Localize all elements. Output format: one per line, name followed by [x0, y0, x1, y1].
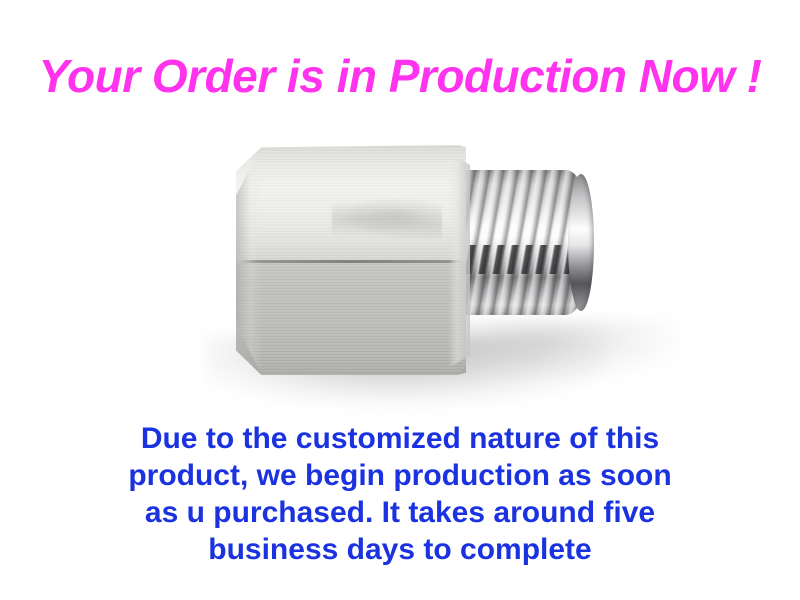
promo-banner: Your Order is in Production Now ! Due to… [0, 0, 800, 600]
notice-line: as u purchased. It takes around five [60, 494, 740, 531]
product-image [150, 120, 670, 410]
notice-line: business days to complete [60, 531, 740, 568]
hex-nut-body [236, 145, 466, 375]
thread-end-cap [568, 174, 594, 311]
notice-line: Due to the customized nature of this [60, 420, 740, 457]
hex-surface-marks [332, 199, 442, 239]
threaded-shank [450, 170, 592, 315]
notice-line: product, we begin production as soon [60, 457, 740, 494]
hex-right-shoulder [448, 147, 470, 373]
hex-edge-line [238, 260, 464, 263]
production-notice-text: Due to the customized nature of this pro… [60, 420, 740, 568]
page-title: Your Order is in Production Now ! [0, 48, 800, 104]
product-shadow-right [450, 320, 680, 380]
